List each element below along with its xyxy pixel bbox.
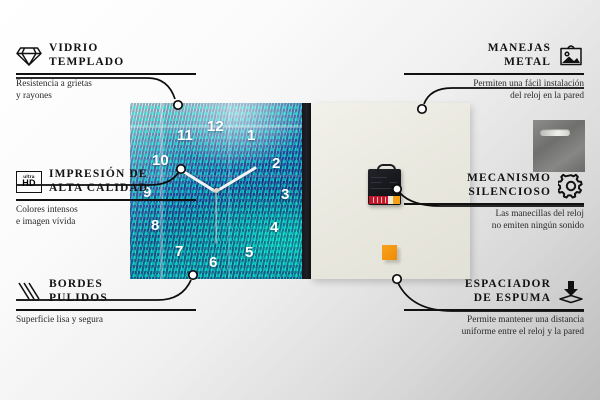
callout-subtitle-line2: uniforme entre el reloj y la pared [404,326,584,339]
callout-espaciador-espuma[interactable]: ESPACIADOR DE ESPUMA Permite mantener un… [404,278,584,339]
callout-subtitle-line1: Permiten una fácil instalación [404,78,584,91]
mechanism-detail-line [371,188,391,189]
callout-subtitle: Colores intensos e imagen vívida [16,204,196,229]
callout-title-line2: DE ESPUMA [465,292,551,306]
callout-subtitle-line2: no emiten ningún sonido [404,220,584,233]
callout-title-line2: SILENCIOSO [467,186,551,200]
callout-title-line1: BORDES [49,278,108,292]
callout-title-line1: ESPACIADOR [465,278,551,292]
callout-header: BORDES PULIDOS [16,278,196,305]
callout-title: VIDRIO TEMPLADO [49,42,124,69]
callout-header: MECANISMO SILENCIOSO [404,172,584,199]
clock-mechanism-box [368,169,401,205]
clock-numeral-12: 12 [207,119,224,134]
callout-subtitle: Permite mantener una distancia uniforme … [404,314,584,339]
callout-title: IMPRESIÓN DE ALTA CALIDAD [49,168,148,195]
callout-title-line1: MANEJAS [488,42,551,56]
callout-vidrio-templado[interactable]: VIDRIO TEMPLADO Resistencia a grietas y … [16,42,196,103]
callout-title-line1: MECANISMO [467,172,551,186]
callout-title-line2: TEMPLADO [49,56,124,70]
callout-title: MANEJAS METAL [488,42,551,69]
callout-subtitle-line2: del reloj en la pared [404,90,584,103]
callout-subtitle-line1: Superficie lisa y segura [16,314,196,327]
callout-header: ultra HD IMPRESIÓN DE ALTA CALIDAD [16,168,196,195]
clock-numeral-7: 7 [175,244,183,259]
mechanism-detail-line [371,182,382,183]
clock-side-edge [302,103,311,279]
callout-subtitle-line2: y rayones [16,90,196,103]
callout-subtitle: Permiten una fácil instalación del reloj… [404,78,584,103]
callout-header: VIDRIO TEMPLADO [16,42,196,69]
gear-icon [558,173,584,199]
callout-subtitle-line2: e imagen vívida [16,216,196,229]
diamond-icon [16,43,42,69]
callout-divider [404,309,584,311]
callout-title-line1: VIDRIO [49,42,124,56]
clock-numeral-11: 11 [177,128,193,143]
callout-subtitle: Resistencia a grietas y rayones [16,78,196,103]
callout-header: ESPACIADOR DE ESPUMA [404,278,584,305]
mechanism-detail-line [389,182,397,183]
ultra-hd-icon: ultra HD [16,169,42,195]
callout-mecanismo-silencioso[interactable]: MECANISMO SILENCIOSO Las manecillas del … [404,172,584,233]
callout-divider [16,309,196,311]
mechanism-hanger-loop [377,164,396,174]
foam-spacer-pad [382,245,397,260]
callout-bordes-pulidos[interactable]: BORDES PULIDOS Superficie lisa y segura [16,278,196,326]
callout-title-line2: ALTA CALIDAD [49,182,148,196]
callout-title-line1: IMPRESIÓN DE [49,168,148,182]
callout-divider [404,203,584,205]
infographic-canvas: 12 1 2 3 4 5 6 7 8 9 10 11 [0,0,600,400]
callout-subtitle-line1: Resistencia a grietas [16,78,196,91]
callout-subtitle: Las manecillas del reloj no emiten ningú… [404,208,584,233]
callout-header: MANEJAS METAL [404,42,584,69]
callout-subtitle-line1: Colores intensos [16,204,196,217]
hanger-slot [540,129,570,136]
polished-edges-icon [16,279,42,305]
clock-numeral-6: 6 [209,255,217,270]
clock-second-hand [215,192,216,244]
callout-title-line2: METAL [488,56,551,70]
callout-subtitle-line1: Las manecillas del reloj [404,208,584,221]
clock-numeral-1: 1 [247,128,255,143]
clock-numeral-2: 2 [272,156,280,171]
picture-hanger-icon [558,43,584,69]
callout-subtitle-line1: Permite mantener una distancia [404,314,584,327]
callout-subtitle: Superficie lisa y segura [16,314,196,327]
callout-title: MECANISMO SILENCIOSO [467,172,551,199]
clock-hand-hub [214,188,219,193]
mechanism-label-strip [369,196,400,204]
foam-spacer-arrow-icon [558,279,584,305]
ultra-hd-icon-main-text: HD [22,179,35,188]
callout-impresion-alta-calidad[interactable]: ultra HD IMPRESIÓN DE ALTA CALIDAD Color… [16,168,196,229]
callout-divider [16,73,196,75]
clock-numeral-4: 4 [270,220,278,235]
callout-title-line2: PULIDOS [49,292,108,306]
callout-divider [16,199,196,201]
metal-hanger-plate [533,120,585,172]
callout-title: ESPACIADOR DE ESPUMA [465,278,551,305]
clock-numeral-5: 5 [245,245,253,260]
callout-divider [404,73,584,75]
callout-title: BORDES PULIDOS [49,278,108,305]
clock-numeral-10: 10 [152,153,169,168]
clock-numeral-3: 3 [281,187,289,202]
callout-manejas-metal[interactable]: MANEJAS METAL Permiten una fácil instala… [404,42,584,103]
mechanism-detail-line [371,177,387,178]
